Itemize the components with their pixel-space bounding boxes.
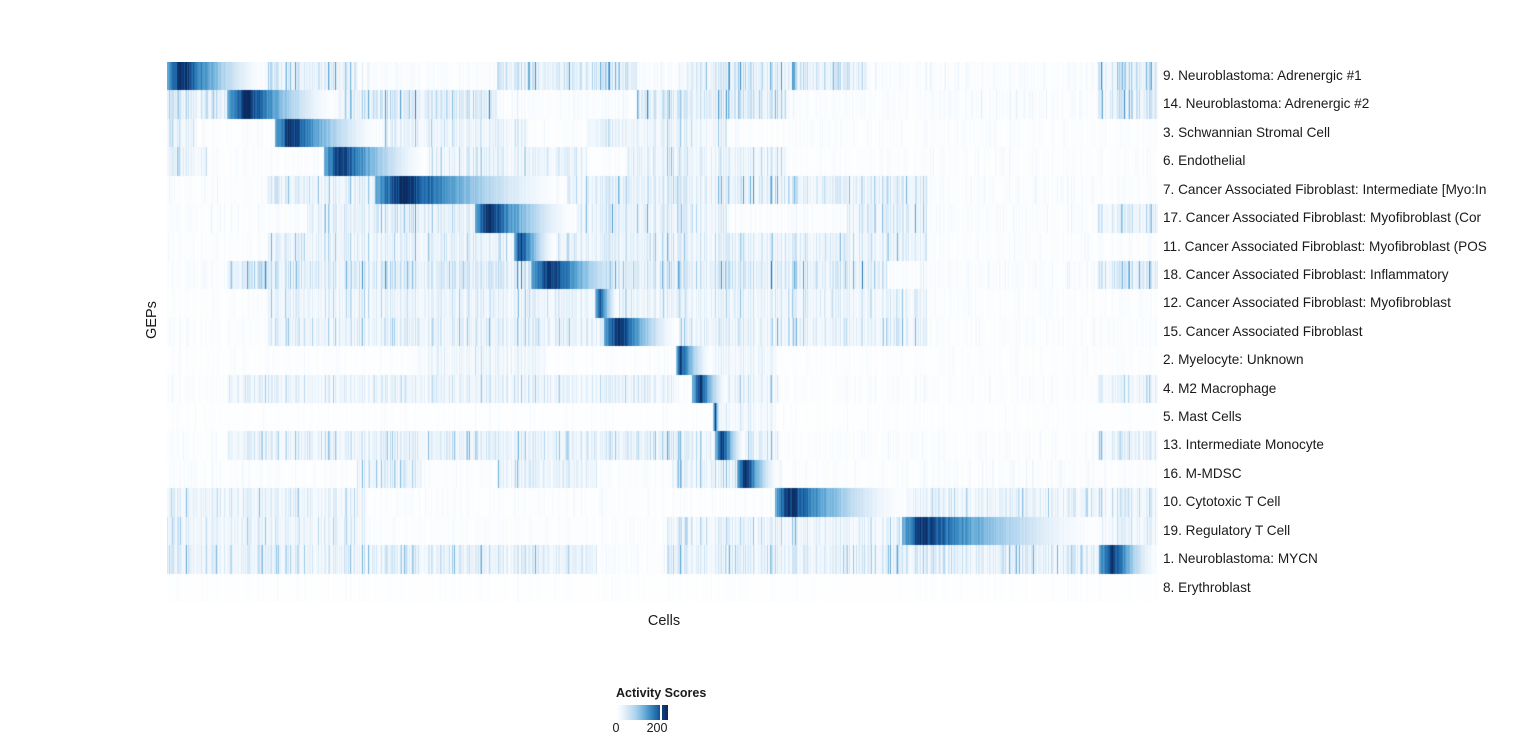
row-label: 17. Cancer Associated Fibroblast: Myofib… [1163,204,1481,232]
colorbar-bar [616,705,668,720]
row-label: 13. Intermediate Monocyte [1163,431,1324,459]
colorbar-title: Activity Scores [616,686,813,700]
colorbar-tick-labels: 0200 [613,721,703,737]
row-label: 8. Erythroblast [1163,574,1251,602]
row-label: 5. Mast Cells [1163,403,1242,431]
row-label: 7. Cancer Associated Fibroblast: Interme… [1163,176,1486,204]
row-label: 16. M-MDSC [1163,460,1242,488]
row-label: 2. Myelocyte: Unknown [1163,346,1304,374]
row-label: 19. Regulatory T Cell [1163,517,1290,545]
colorbar-tick-label: 0 [613,721,620,735]
row-label: 4. M2 Macrophage [1163,375,1276,403]
row-label: 14. Neuroblastoma: Adrenergic #2 [1163,90,1369,118]
row-label: 10. Cytotoxic T Cell [1163,488,1280,516]
row-label-list: 9. Neuroblastoma: Adrenergic #114. Neuro… [1163,62,1540,602]
row-label: 18. Cancer Associated Fibroblast: Inflam… [1163,261,1449,289]
row-label: 11. Cancer Associated Fibroblast: Myofib… [1163,233,1487,261]
x-axis-title: Cells [648,613,680,629]
row-label: 1. Neuroblastoma: MYCN [1163,545,1318,573]
row-label: 6. Endothelial [1163,147,1245,175]
colorbar-tick-label: 200 [647,721,668,735]
colorbar-tick-mark [660,705,662,720]
row-label: 9. Neuroblastoma: Adrenergic #1 [1163,62,1362,90]
colorbar-legend: Activity Scores 0200 [613,686,813,737]
row-label: 3. Schwannian Stromal Cell [1163,119,1330,147]
heatmap-plot[interactable] [167,62,1158,602]
row-label: 15. Cancer Associated Fibroblast [1163,318,1362,346]
row-label: 12. Cancer Associated Fibroblast: Myofib… [1163,289,1451,317]
y-axis-title: GEPs [144,301,160,339]
heatmap-figure: GEPs Cells 9. Neuroblastoma: Adrenergic … [0,0,1540,743]
